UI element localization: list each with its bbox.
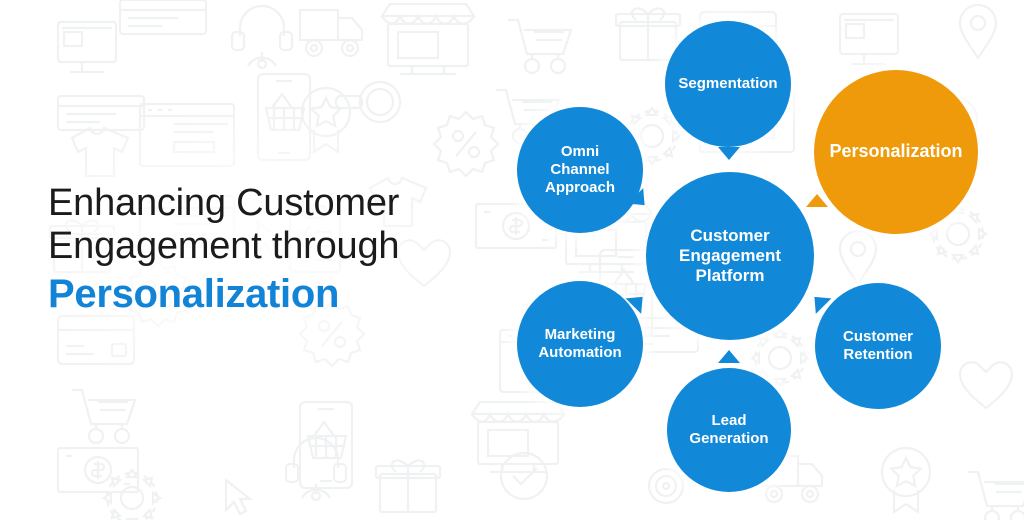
node-label-omni-channel-approach: Omni Channel Approach xyxy=(537,143,623,196)
node-label-personalization: Personalization xyxy=(821,141,970,162)
connector-arrow-lead-generation-icon xyxy=(718,350,740,363)
connector-arrow-personalization-icon xyxy=(806,194,828,207)
infographic-canvas: Enhancing Customer Engagement through Pe… xyxy=(0,0,1024,520)
node-label-marketing-automation: Marketing Automation xyxy=(530,326,629,361)
node-label-segmentation: Segmentation xyxy=(670,75,785,93)
connector-arrow-segmentation-icon xyxy=(718,147,740,160)
diagram-node-segmentation[interactable]: Segmentation xyxy=(665,21,791,147)
headline-line-2: Engagement through xyxy=(48,225,488,268)
diagram-node-customer-retention[interactable]: Customer Retention xyxy=(815,283,941,409)
diagram-node-personalization[interactable]: Personalization xyxy=(814,70,978,234)
diagram-node-omni-channel-approach[interactable]: Omni Channel Approach xyxy=(517,107,643,233)
diagram-node-marketing-automation[interactable]: Marketing Automation xyxy=(517,281,643,407)
diagram-node-lead-generation[interactable]: Lead Generation xyxy=(667,368,791,492)
node-label-customer-retention: Customer Retention xyxy=(835,328,921,363)
page-title: Enhancing Customer Engagement through Pe… xyxy=(48,182,488,317)
headline-line-1: Enhancing Customer xyxy=(48,182,488,225)
node-label-center: Customer Engagement Platform xyxy=(671,226,789,286)
headline-accent: Personalization xyxy=(48,271,488,317)
node-label-lead-generation: Lead Generation xyxy=(681,412,776,447)
diagram-node-center-customer-engagement-platform[interactable]: Customer Engagement Platform xyxy=(646,172,814,340)
